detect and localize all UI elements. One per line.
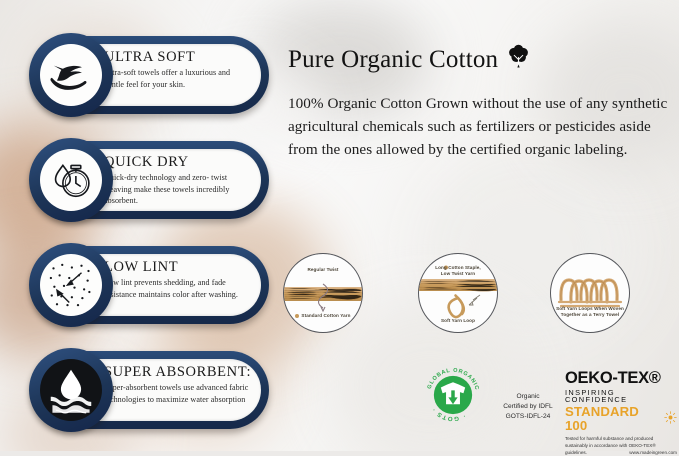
feature-title: ULTRA SOFT bbox=[104, 50, 252, 65]
yarn-top-label: Long Cotton Staple, Low Twist Yarn bbox=[419, 265, 497, 277]
intro-paragraph: 100% Organic Cotton Grown without the us… bbox=[288, 92, 668, 161]
low-twist-yarn-diagram: Long Cotton Staple, Low Twist Yarn Soft … bbox=[418, 253, 498, 333]
feature-title: LOW LINT bbox=[104, 260, 252, 275]
oeko-tex-standard: STANDARD 100 bbox=[565, 405, 659, 431]
feature-card-text: QUICK DRY Quick-dry technology and zero-… bbox=[90, 149, 261, 211]
oeko-tex-standard-row: STANDARD 100 bbox=[565, 405, 677, 431]
feature-card-low-lint: LOW LINT Low lint prevents shedding, and… bbox=[33, 246, 269, 324]
feature-card-text: LOW LINT Low lint prevents shedding, and… bbox=[90, 254, 261, 316]
oeko-tex-fine-print: Tested for harmful substance and produce… bbox=[565, 435, 677, 456]
feature-card-quick-dry: QUICK DRY Quick-dry technology and zero-… bbox=[33, 141, 269, 219]
fine-print-guidelines: guidelines. bbox=[565, 449, 587, 456]
certifier-line-3: GOTS-IDFL-24 bbox=[494, 412, 562, 422]
cotton-boll-icon bbox=[506, 44, 531, 76]
terry-loops-art bbox=[551, 254, 629, 332]
certifier-line-1: Organic bbox=[494, 392, 562, 402]
sun-burst-icon bbox=[664, 411, 677, 426]
feature-icon-ring bbox=[29, 243, 113, 327]
feature-body: Quick-dry technology and zero- twist wea… bbox=[104, 172, 252, 206]
feature-body: Low lint prevents shedding, and fade res… bbox=[104, 277, 252, 300]
feature-title: SUPER ABSORBENT: bbox=[104, 365, 252, 380]
oeko-tex-brand: OEKO-TEX® bbox=[565, 370, 677, 387]
feature-card-text: SUPER ABSORBENT: Super-absorbent towels … bbox=[90, 359, 261, 421]
yarn-bottom-label: Soft Yarn Loop bbox=[419, 318, 497, 324]
feature-body: Ultra-soft towels offer a luxurious and … bbox=[104, 67, 252, 90]
droplet-stopwatch-icon bbox=[40, 149, 102, 211]
regular-twist-diagram: Regular Twist Standard Cotton Yarn bbox=[283, 253, 363, 333]
feature-title: QUICK DRY bbox=[104, 155, 252, 170]
gots-logo: GLOBAL ORGANIC TEXTILE STANDARD · GOTS · bbox=[424, 366, 482, 424]
gots-certifier-text: Organic Certified by IDFL GOTS-IDFL-24 bbox=[494, 392, 562, 422]
fine-print-main: Tested for harmful substance and produce… bbox=[565, 435, 677, 450]
feature-card-super-absorbent: SUPER ABSORBENT: Super-absorbent towels … bbox=[33, 351, 269, 429]
yarn-bottom-label: Soft Yarn Loops When Woven Together as a… bbox=[551, 306, 629, 318]
oeko-tex-badge: OEKO-TEX® INSPIRING CONFIDENCE STANDARD … bbox=[565, 370, 677, 456]
page-title-text: Pure Organic Cotton bbox=[288, 46, 498, 74]
feature-icon-ring bbox=[29, 348, 113, 432]
terry-loops-diagram: Soft Yarn Loops When Woven Together as a… bbox=[550, 253, 630, 333]
lint-speck-icon bbox=[40, 254, 102, 316]
yarn-top-label: Regular Twist bbox=[284, 267, 362, 273]
fine-print-url: www.madeingreen.com bbox=[629, 449, 677, 456]
feature-icon-ring bbox=[29, 138, 113, 222]
oeko-tex-tagline: INSPIRING CONFIDENCE bbox=[565, 389, 677, 404]
feature-card-text: ULTRA SOFT Ultra-soft towels offer a lux… bbox=[90, 44, 261, 106]
feature-icon-ring bbox=[29, 33, 113, 117]
feature-card-ultra-soft: ULTRA SOFT Ultra-soft towels offer a lux… bbox=[33, 36, 269, 114]
certifier-line-2: Certified by IDFL bbox=[494, 402, 562, 412]
page-title: Pure Organic Cotton bbox=[288, 44, 676, 76]
yarn-bottom-label: Standard Cotton Yarn bbox=[284, 313, 362, 319]
hand-feather-icon bbox=[40, 44, 102, 106]
regular-twist-art bbox=[284, 254, 362, 332]
droplet-absorb-icon bbox=[40, 359, 102, 421]
feature-body: Super-absorbent towels use advanced fabr… bbox=[104, 382, 252, 405]
